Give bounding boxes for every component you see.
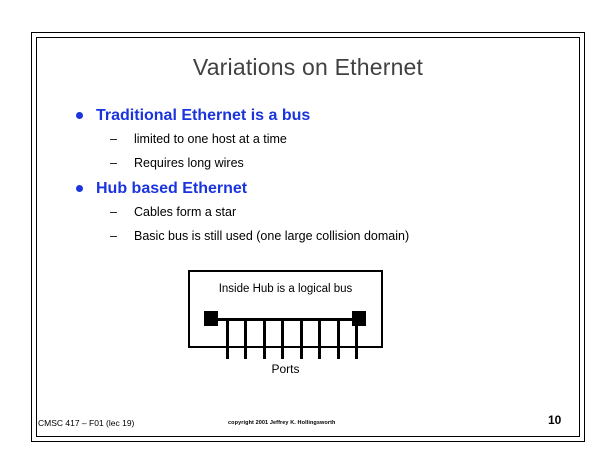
port-line — [318, 320, 321, 359]
bullet-label: Requires long wires — [134, 156, 244, 170]
bullet-item-level2: – limited to one host at a time — [72, 130, 542, 149]
bullet-label: Cables form a star — [134, 205, 236, 219]
bullet-item-level1: Traditional Ethernet is a bus — [72, 105, 542, 126]
page-number: 10 — [548, 413, 561, 427]
hub-enclosure-rect — [188, 270, 383, 348]
footer-copyright-label: copyright 2001 Jeffrey K. Hollingsworth — [228, 420, 336, 426]
port-line — [281, 320, 284, 359]
port-line — [337, 320, 340, 359]
bullet-label: Hub based Ethernet — [96, 180, 247, 197]
bullet-item-level1: Hub based Ethernet — [72, 178, 542, 199]
bullet-item-level2: – Requires long wires — [72, 154, 542, 173]
hub-caption-label: Inside Hub is a logical bus — [188, 283, 383, 295]
bullet-item-level2: – Basic bus is still used (one large col… — [72, 227, 542, 246]
disc-bullet-icon — [76, 112, 83, 119]
bullet-label: limited to one host at a time — [134, 132, 287, 146]
bullet-list: Traditional Ethernet is a bus – limited … — [72, 105, 542, 251]
footer-course-label: CMSC 417 – F01 (lec 19) — [38, 418, 134, 428]
ports-label: Ports — [188, 362, 383, 376]
en-dash-icon: – — [110, 154, 117, 173]
disc-bullet-icon — [76, 185, 83, 192]
en-dash-icon: – — [110, 227, 117, 246]
bus-terminator-left-icon — [204, 311, 218, 326]
hub-diagram: Inside Hub is a logical bus Ports — [188, 270, 383, 348]
bullet-label: Basic bus is still used (one large colli… — [134, 229, 409, 243]
page-title: Variations on Ethernet — [40, 54, 576, 81]
port-line — [263, 320, 266, 359]
port-line — [355, 320, 358, 359]
port-line — [300, 320, 303, 359]
en-dash-icon: – — [110, 130, 117, 149]
slide-canvas: Variations on Ethernet Traditional Ether… — [0, 0, 605, 467]
bullet-item-level2: – Cables form a star — [72, 203, 542, 222]
bullet-label: Traditional Ethernet is a bus — [96, 107, 310, 124]
en-dash-icon: – — [110, 203, 117, 222]
port-line — [244, 320, 247, 359]
port-line — [226, 320, 229, 359]
